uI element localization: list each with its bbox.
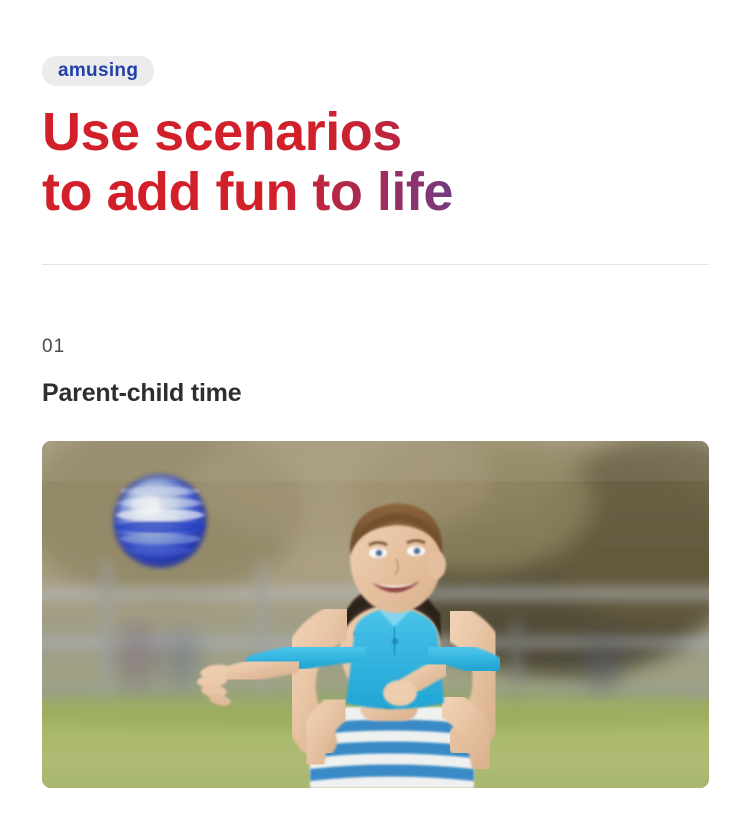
page-root: amusing Use scenarios to add fun to life… [0, 0, 750, 819]
scenario-photo-illustration [42, 441, 709, 788]
section-divider [42, 264, 709, 265]
section-title-label: Parent-child time [42, 379, 241, 408]
amusing-badge: amusing [42, 56, 154, 86]
scenario-photo [42, 441, 709, 788]
badge-container: amusing [42, 56, 154, 86]
page-title: Use scenarios to add fun to life [42, 102, 702, 223]
section-index-label: 01 [42, 336, 65, 358]
headline-line-1: Use scenarios [42, 102, 702, 162]
headline-line-2: to add fun to life [42, 162, 702, 222]
